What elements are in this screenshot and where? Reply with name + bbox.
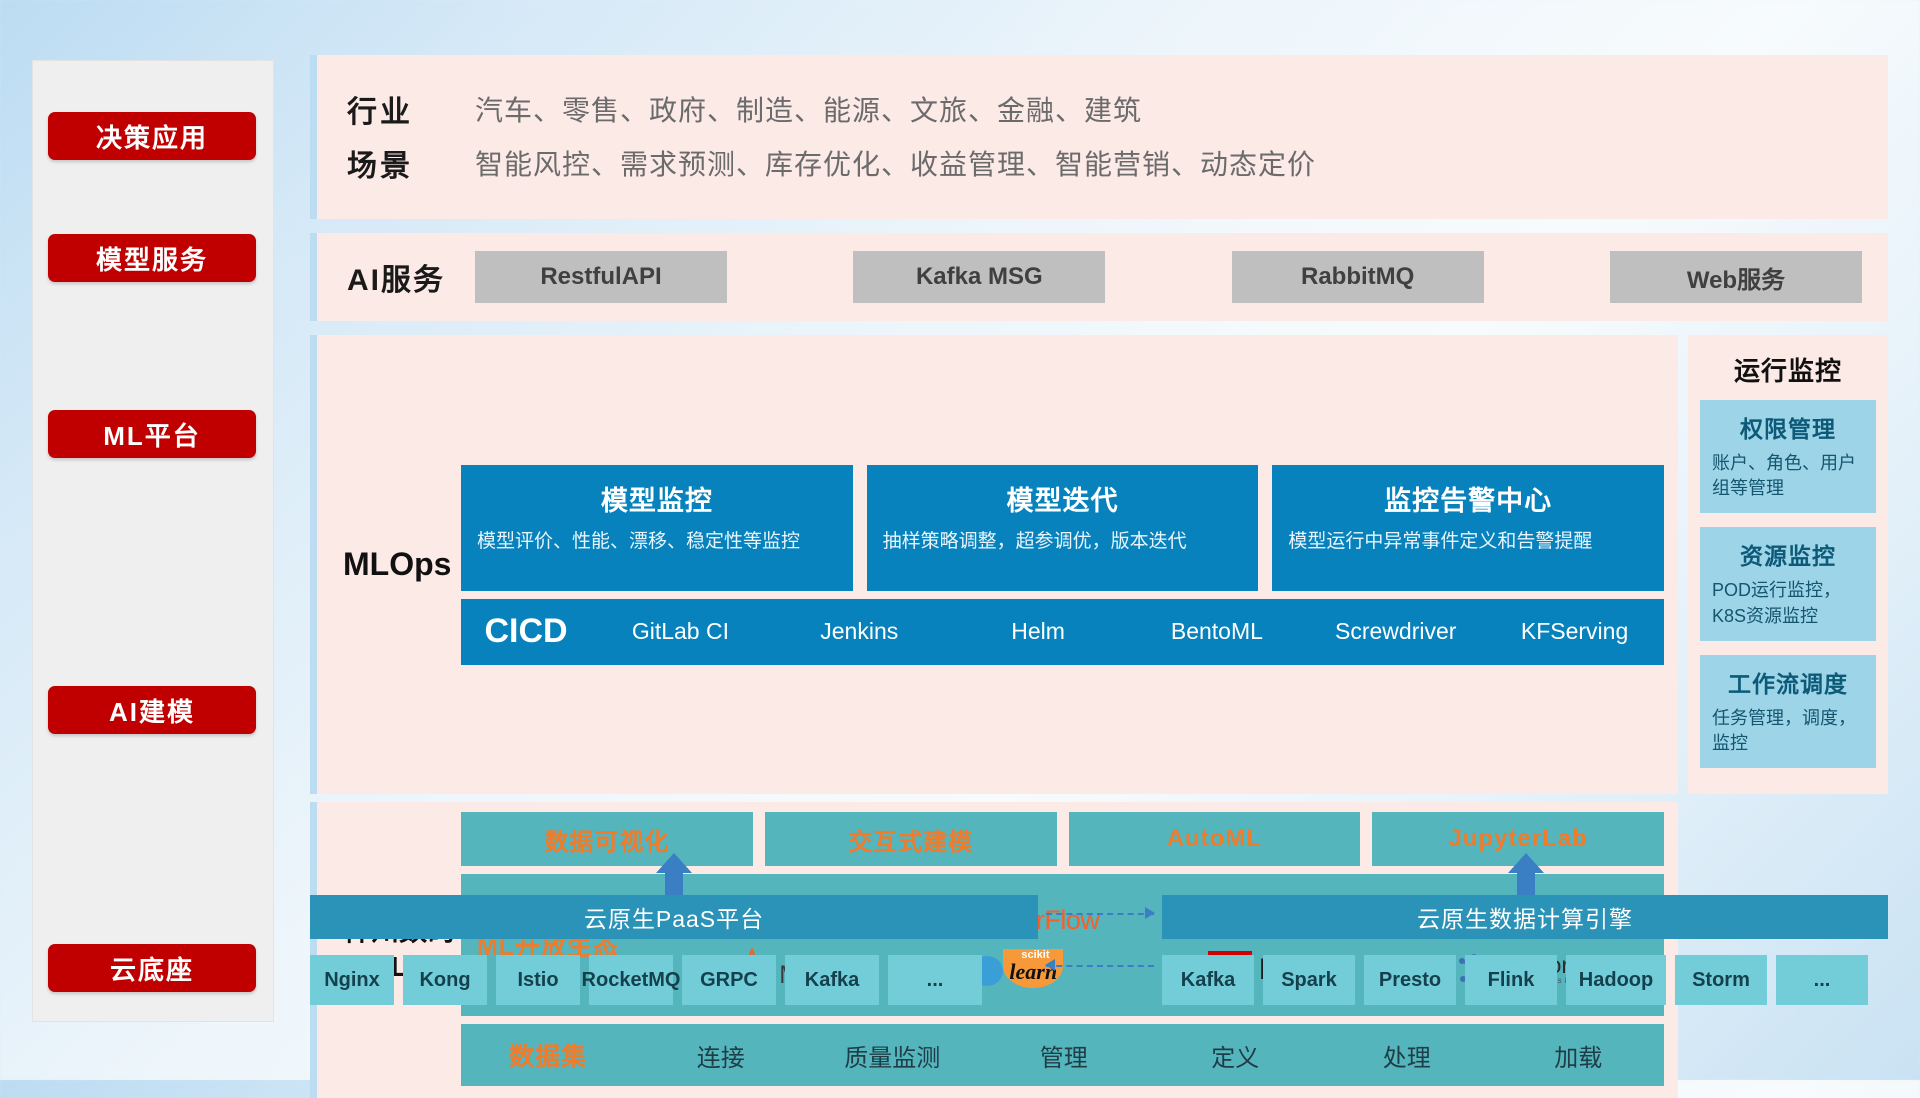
paas-chip-kong[interactable]: Kong — [403, 955, 487, 1005]
ai-services-list: RestfulAPI Kafka MSG RabbitMQ Web服务 — [475, 251, 1862, 303]
engine-chip-flink[interactable]: Flink — [1465, 955, 1557, 1005]
mlops-card[interactable]: 监控告警中心 模型运行中异常事件定义和告警提醒 — [1272, 465, 1664, 591]
mlops-label: MLOps — [343, 546, 461, 583]
monitoring-card-title: 权限管理 — [1712, 410, 1864, 444]
data-engine-component-list: Kafka Spark Presto Flink Hadoop Storm ..… — [1162, 955, 1868, 1005]
engine-chip-more[interactable]: ... — [1776, 955, 1868, 1005]
cicd-item[interactable]: KFServing — [1485, 618, 1664, 645]
monitoring-card-title: 工作流调度 — [1712, 665, 1864, 699]
mlops-card-desc: 模型评价、性能、漂移、稳定性等监控 — [477, 528, 837, 556]
rail-tag-ml-platform[interactable]: ML平台 — [48, 410, 256, 458]
architecture-diagram: 决策应用 模型服务 ML平台 AI建模 云底座 行业 汽车、零售、政府、制造、能… — [0, 0, 1920, 1080]
monitoring-card-desc: 任务管理，调度，监控 — [1712, 706, 1864, 756]
layer-rail — [32, 60, 274, 1022]
tab-automl[interactable]: AutoML — [1069, 812, 1361, 866]
rail-tag-ai-modeling[interactable]: AI建模 — [48, 686, 256, 734]
cicd-item[interactable]: GitLab CI — [591, 618, 770, 645]
paas-chip-rocketmq[interactable]: RocketMQ — [589, 955, 673, 1005]
engine-chip-presto[interactable]: Presto — [1364, 955, 1456, 1005]
paas-chip-grpc[interactable]: GRPC — [682, 955, 776, 1005]
paas-chip-nginx[interactable]: Nginx — [310, 955, 394, 1005]
cicd-item-list: GitLab CI Jenkins Helm BentoML Screwdriv… — [591, 618, 1664, 645]
mlops-card-title: 监控告警中心 — [1288, 479, 1648, 518]
ai-services-label: AI服务 — [347, 255, 475, 299]
ai-service-chip[interactable]: RestfulAPI — [475, 251, 727, 303]
mlops-card-title: 模型监控 — [477, 479, 837, 518]
engine-chip-storm[interactable]: Storm — [1675, 955, 1767, 1005]
monitoring-card[interactable]: 工作流调度 任务管理，调度，监控 — [1700, 655, 1876, 768]
data-engine-up-arrow-icon — [1508, 853, 1544, 897]
monitoring-card-desc: 账户、角色、用户组等管理 — [1712, 451, 1864, 501]
paas-chip-kafka[interactable]: Kafka — [785, 955, 879, 1005]
ai-service-chip[interactable]: Web服务 — [1610, 251, 1862, 303]
scenario-row: 场景 智能风控、需求预测、库存优化、收益管理、智能营销、动态定价 — [347, 141, 1862, 185]
mlops-panel: MLOps 模型监控 模型评价、性能、漂移、稳定性等监控 模型迭代 抽样策略调整… — [310, 335, 1678, 794]
scenario-value: 智能风控、需求预测、库存优化、收益管理、智能营销、动态定价 — [475, 143, 1316, 183]
engine-chip-kafka[interactable]: Kafka — [1162, 955, 1254, 1005]
monitoring-card-desc: POD运行监控，K8S资源监控 — [1712, 578, 1864, 628]
tab-data-visualization[interactable]: 数据可视化 — [461, 812, 753, 866]
ai-services-band: AI服务 RestfulAPI Kafka MSG RabbitMQ Web服务 — [310, 233, 1888, 321]
industry-label: 行业 — [347, 87, 475, 131]
paas-chip-more[interactable]: ... — [888, 955, 982, 1005]
ml-lab-tabs: 数据可视化 交互式建模 AutoML JupyterLab — [461, 812, 1664, 866]
rail-tag-model-service[interactable]: 模型服务 — [48, 234, 256, 282]
cloud-foundation: 云原生PaaS平台 云原生数据计算引擎 Nginx Kong Istio Roc… — [310, 895, 1888, 1055]
cicd-item[interactable]: Screwdriver — [1306, 618, 1485, 645]
paas-up-arrow-icon — [656, 853, 692, 897]
runtime-monitoring-title: 运行监控 — [1700, 351, 1876, 388]
paas-chip-istio[interactable]: Istio — [496, 955, 580, 1005]
monitoring-card-title: 资源监控 — [1712, 537, 1864, 571]
mlops-card-desc: 模型运行中异常事件定义和告警提醒 — [1288, 528, 1648, 556]
mlops-card-list: 模型监控 模型评价、性能、漂移、稳定性等监控 模型迭代 抽样策略调整，超参调优，… — [461, 465, 1664, 591]
cicd-label: CICD — [461, 612, 591, 651]
mlops-card-title: 模型迭代 — [883, 479, 1243, 518]
cicd-item[interactable]: Jenkins — [770, 618, 949, 645]
ai-service-chip[interactable]: Kafka MSG — [853, 251, 1105, 303]
paas-platform-bar[interactable]: 云原生PaaS平台 — [310, 895, 1038, 939]
monitoring-card[interactable]: 权限管理 账户、角色、用户组等管理 — [1700, 400, 1876, 513]
mlops-card[interactable]: 模型迭代 抽样策略调整，超参调优，版本迭代 — [867, 465, 1259, 591]
scenario-label: 场景 — [347, 141, 475, 185]
mlops-card-desc: 抽样策略调整，超参调优，版本迭代 — [883, 528, 1243, 556]
cicd-bar: CICD GitLab CI Jenkins Helm BentoML Scre… — [461, 599, 1664, 665]
data-compute-engine-bar[interactable]: 云原生数据计算引擎 — [1162, 895, 1888, 939]
industry-value: 汽车、零售、政府、制造、能源、文旅、金融、建筑 — [475, 89, 1142, 129]
mlops-card[interactable]: 模型监控 模型评价、性能、漂移、稳定性等监控 — [461, 465, 853, 591]
engine-chip-hadoop[interactable]: Hadoop — [1566, 955, 1666, 1005]
rail-tag-cloud-base[interactable]: 云底座 — [48, 944, 256, 992]
tab-interactive-modeling[interactable]: 交互式建模 — [765, 812, 1057, 866]
industry-row: 行业 汽车、零售、政府、制造、能源、文旅、金融、建筑 — [347, 87, 1862, 131]
cicd-item[interactable]: Helm — [949, 618, 1128, 645]
industry-scenario-band: 行业 汽车、零售、政府、制造、能源、文旅、金融、建筑 场景 智能风控、需求预测、… — [310, 55, 1888, 219]
ai-service-chip[interactable]: RabbitMQ — [1232, 251, 1484, 303]
engine-chip-spark[interactable]: Spark — [1263, 955, 1355, 1005]
runtime-monitoring-panel: 运行监控 权限管理 账户、角色、用户组等管理 资源监控 POD运行监控，K8S资… — [1688, 335, 1888, 794]
mlops-row: MLOps 模型监控 模型评价、性能、漂移、稳定性等监控 模型迭代 抽样策略调整… — [310, 335, 1888, 794]
paas-component-list: Nginx Kong Istio RocketMQ GRPC Kafka ... — [310, 955, 982, 1005]
monitoring-card[interactable]: 资源监控 POD运行监控，K8S资源监控 — [1700, 527, 1876, 640]
bidirectional-link — [1046, 913, 1154, 975]
cicd-item[interactable]: BentoML — [1127, 618, 1306, 645]
mlops-content: 模型监控 模型评价、性能、漂移、稳定性等监控 模型迭代 抽样策略调整，超参调优，… — [461, 465, 1664, 665]
rail-tag-decision-apps[interactable]: 决策应用 — [48, 112, 256, 160]
